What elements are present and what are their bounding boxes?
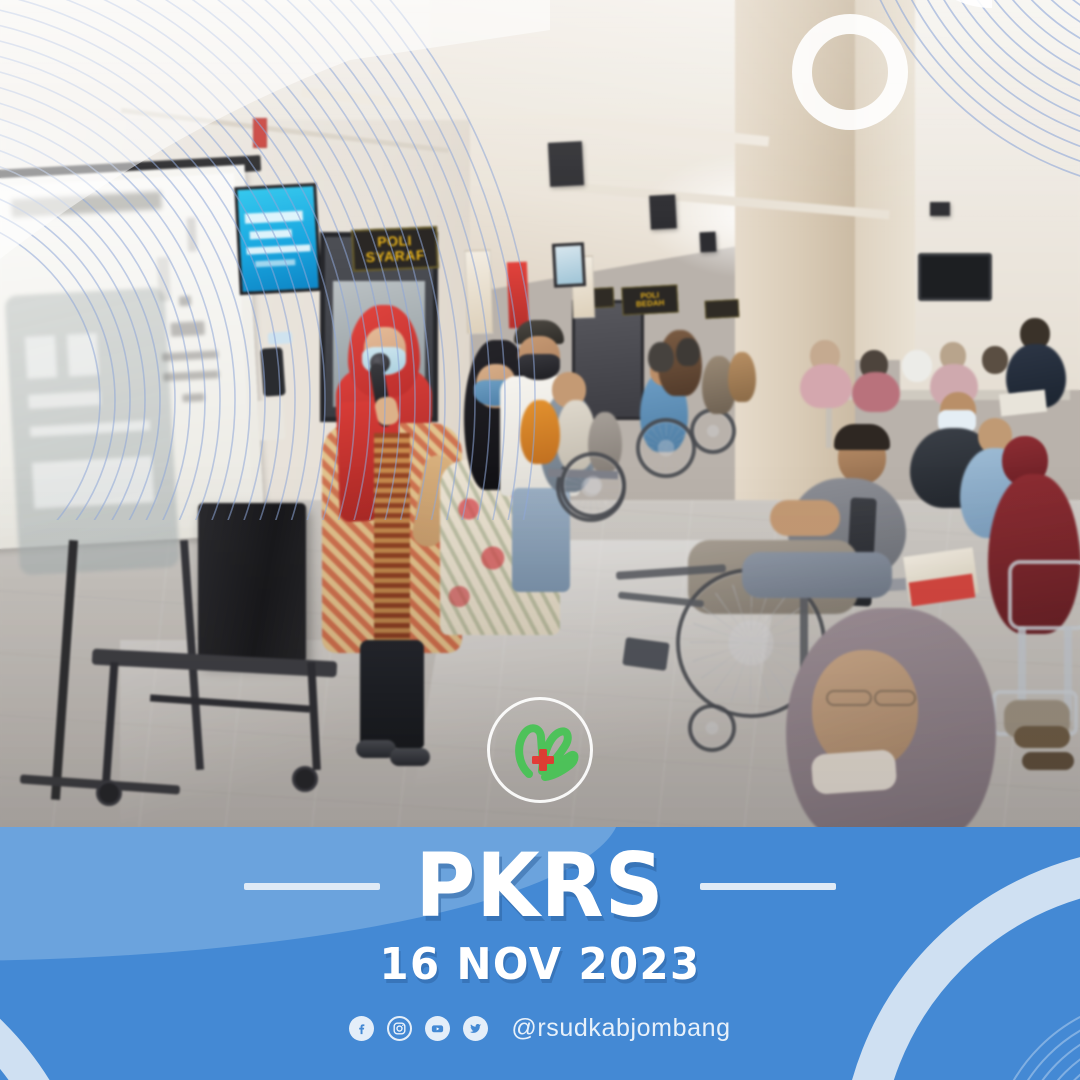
foreground-woman-face bbox=[812, 650, 918, 770]
hospital-logo-watermark bbox=[487, 697, 593, 803]
wheelchair-caster bbox=[688, 704, 736, 752]
bottom-banner: PKRS 16 NOV 2023 bbox=[0, 827, 1080, 1080]
facebook-icon[interactable] bbox=[349, 1016, 374, 1041]
poli-bedah-line2: BEDAH bbox=[636, 299, 665, 309]
wheelchair-man-arm bbox=[770, 500, 840, 536]
wheelchair-wheel-left bbox=[560, 452, 626, 518]
ceiling-speaker-3 bbox=[699, 232, 716, 253]
wall-poster-red bbox=[507, 262, 529, 329]
wall-telephone bbox=[260, 347, 285, 396]
steel-chair-1 bbox=[1008, 560, 1080, 630]
event-date: 16 NOV 2023 bbox=[379, 939, 700, 990]
wall-sanitizer-box bbox=[257, 399, 286, 441]
audience-head-mask-1 bbox=[940, 392, 976, 430]
crowd-head-white-cap bbox=[902, 350, 932, 382]
social-row: @rsudkabjombang bbox=[349, 1014, 730, 1043]
wall-poster-1 bbox=[465, 250, 494, 335]
right-room-wall bbox=[900, 60, 1080, 390]
ceiling-speaker-4 bbox=[930, 202, 950, 216]
crowd-body-2 bbox=[852, 372, 900, 412]
wheelchair-spokes-2 bbox=[642, 424, 690, 472]
pa-speaker bbox=[198, 503, 306, 663]
youtube-icon[interactable] bbox=[425, 1016, 450, 1041]
crowd-head-4 bbox=[982, 346, 1008, 374]
wall-marker-red bbox=[253, 118, 267, 148]
poli-bedah-sign: POLI BEDAH bbox=[621, 285, 678, 316]
banner-content: PKRS 16 NOV 2023 bbox=[0, 827, 1080, 1080]
queue-person-2 bbox=[728, 352, 756, 402]
poli-syaraf-sign: POLI SYARAF bbox=[351, 226, 439, 272]
twitter-icon[interactable] bbox=[463, 1016, 488, 1041]
title-dash-left bbox=[244, 883, 380, 890]
seated-legs bbox=[1004, 700, 1070, 738]
cart-wheel-1 bbox=[96, 780, 122, 806]
person-orange-shirt bbox=[520, 400, 560, 464]
corridor-sign-small-2 bbox=[705, 299, 740, 319]
wall-monitor-small bbox=[552, 242, 586, 288]
title-dash-right bbox=[700, 883, 836, 890]
wheelchair-footplate bbox=[622, 637, 669, 671]
event-title: PKRS bbox=[415, 843, 664, 929]
poli-syaraf-line2: SYARAF bbox=[365, 248, 425, 265]
wheelchair-man-head bbox=[838, 432, 886, 484]
social-handle[interactable]: @rsudkabjombang bbox=[511, 1014, 730, 1043]
title-row: PKRS bbox=[244, 843, 836, 929]
crowd-person-a bbox=[648, 342, 674, 372]
slide-image-blur bbox=[5, 287, 180, 575]
stretcher-patient bbox=[742, 552, 892, 598]
crowd-body-dark-jacket bbox=[1006, 344, 1066, 408]
instagram-icon[interactable] bbox=[387, 1016, 412, 1041]
crowd-body-1 bbox=[800, 364, 852, 408]
cart-wheel-2 bbox=[292, 766, 318, 792]
slide-title-blur bbox=[11, 191, 162, 217]
poster-root: POLI SYARAF POLI BEDAH bbox=[0, 0, 1080, 1080]
wall-monitor-right bbox=[918, 253, 992, 301]
wheelchair-wheel-3 bbox=[690, 408, 736, 454]
logo-mark bbox=[498, 708, 582, 792]
support-column-secondary bbox=[855, 0, 915, 360]
wall-tv-display bbox=[234, 183, 322, 295]
crowd-person-b bbox=[676, 338, 700, 366]
projected-slide bbox=[0, 173, 254, 537]
ceiling-speaker-1 bbox=[548, 141, 584, 187]
ceiling-speaker-2 bbox=[649, 194, 677, 229]
